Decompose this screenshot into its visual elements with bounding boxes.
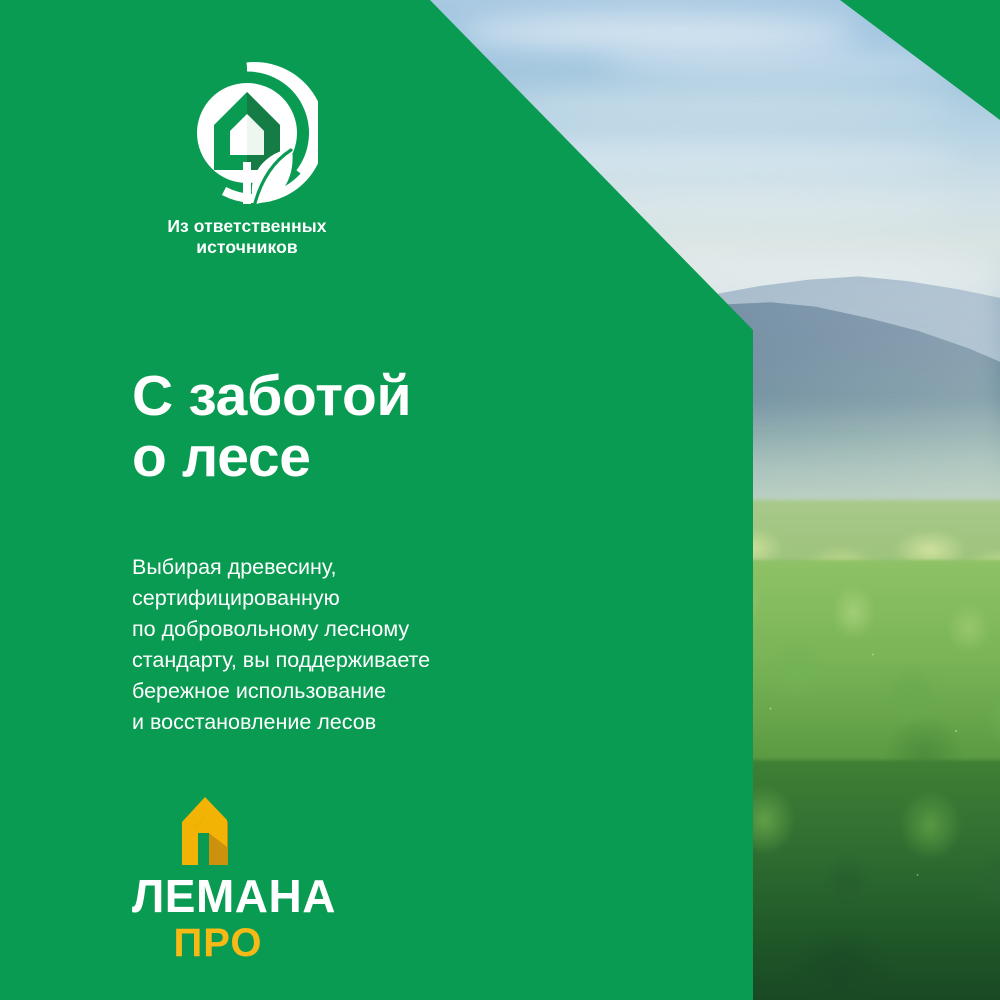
responsible-sources-badge: Из ответственных источников — [132, 62, 362, 259]
poster-root: Из ответственных источников С заботой о … — [0, 0, 1000, 1000]
brand-suffix: ПРО — [132, 923, 304, 963]
badge-caption: Из ответственных источников — [132, 216, 362, 259]
brand-lockup: ЛЕМАНА ПРО — [132, 795, 332, 963]
responsible-sources-seal-icon — [176, 62, 318, 204]
body-paragraph: Выбирая древесину, сертифицированную по … — [132, 552, 552, 739]
lemana-house-logo-icon — [168, 795, 242, 867]
brand-name: ЛЕМАНА — [132, 873, 332, 919]
poster-content: Из ответственных источников С заботой о … — [0, 0, 1000, 1000]
page-title: С заботой о лесе — [132, 366, 411, 487]
